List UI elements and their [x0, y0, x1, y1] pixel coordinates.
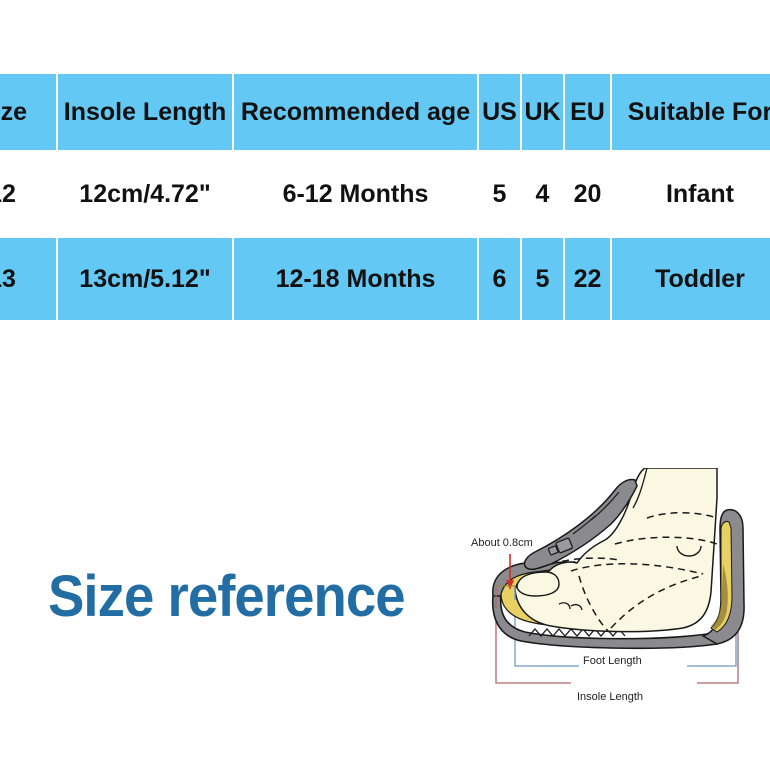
table-header-us: US — [478, 73, 521, 151]
cell-size: 12 — [0, 151, 57, 237]
table-row: 12 12cm/4.72" 6-12 Months 5 4 20 Infant — [0, 151, 770, 237]
cell-insole-length: 13cm/5.12" — [57, 237, 233, 321]
table-header-row: Size Insole Length Recommended age US UK… — [0, 73, 770, 151]
foot-length-label: Foot Length — [583, 655, 642, 667]
cell-uk: 4 — [521, 151, 564, 237]
page-title: Size reference — [48, 568, 405, 626]
cell-uk: 5 — [521, 237, 564, 321]
cell-suitable-for: Toddler — [611, 237, 770, 321]
size-chart-table-container: Size Insole Length Recommended age US UK… — [0, 72, 770, 318]
cell-us: 6 — [478, 237, 521, 321]
shoe-measurement-diagram: About 0.8cm Foot Length Insole Length — [455, 468, 770, 713]
table-header-suitable-for: Suitable For — [611, 73, 770, 151]
table-header-size: Size — [0, 73, 57, 151]
insole-length-label: Insole Length — [577, 691, 643, 703]
measurement-labels: Foot Length Insole Length — [571, 652, 697, 703]
size-chart-page: { "colors": { "table_header_blue": "#64c… — [0, 0, 770, 770]
gap-label: About 0.8cm — [471, 537, 533, 549]
table-header-insole-length: Insole Length — [57, 73, 233, 151]
cell-recommended-age: 6-12 Months — [233, 151, 478, 237]
cell-suitable-for: Infant — [611, 151, 770, 237]
cell-recommended-age: 12-18 Months — [233, 237, 478, 321]
table-header-uk: UK — [521, 73, 564, 151]
cell-us: 5 — [478, 151, 521, 237]
cell-eu: 22 — [564, 237, 611, 321]
table-row: 13 13cm/5.12" 12-18 Months 6 5 22 Toddle… — [0, 237, 770, 321]
table-header-recommended-age: Recommended age — [233, 73, 478, 151]
table-header-eu: EU — [564, 73, 611, 151]
size-chart-table: Size Insole Length Recommended age US UK… — [0, 72, 770, 322]
cell-size: 13 — [0, 237, 57, 321]
cell-eu: 20 — [564, 151, 611, 237]
cell-insole-length: 12cm/4.72" — [57, 151, 233, 237]
